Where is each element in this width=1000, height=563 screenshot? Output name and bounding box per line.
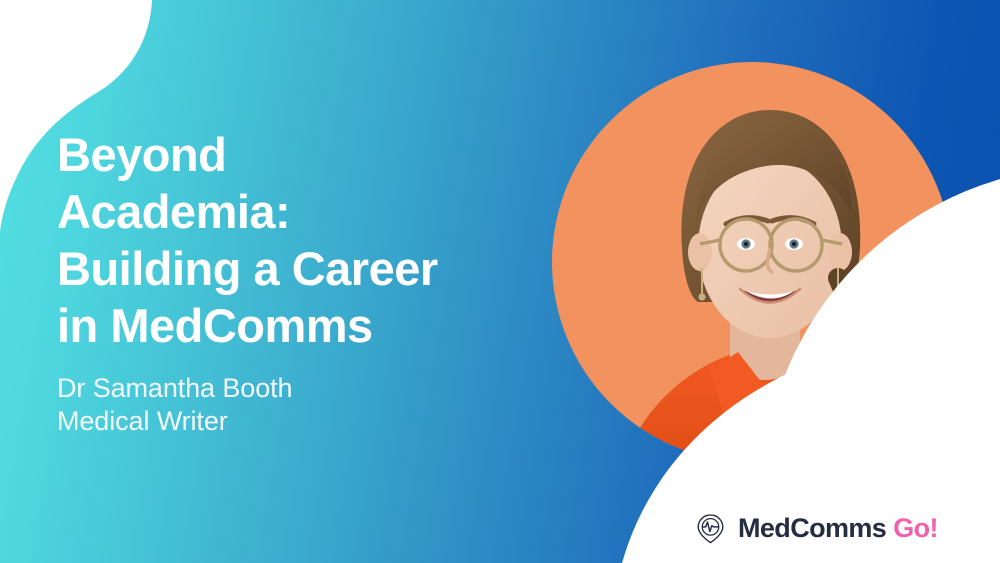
page-title: Beyond Academia: Building a Career in Me…: [57, 126, 537, 354]
logo-word-go: Go!: [893, 513, 938, 544]
brand-logo[interactable]: MedComms Go!: [694, 512, 938, 545]
map-pin-pulse-icon: [694, 512, 727, 545]
title-slide: Beyond Academia: Building a Career in Me…: [0, 0, 1000, 563]
bottom-right-circle-shape: [762, 166, 1000, 563]
logo-wordmark: MedComms Go!: [738, 513, 938, 544]
logo-word-medcomms: MedComms: [738, 513, 886, 544]
title-text-block: Beyond Academia: Building a Career in Me…: [57, 126, 537, 438]
speaker-credit: Dr Samantha Booth Medical Writer: [57, 372, 537, 438]
